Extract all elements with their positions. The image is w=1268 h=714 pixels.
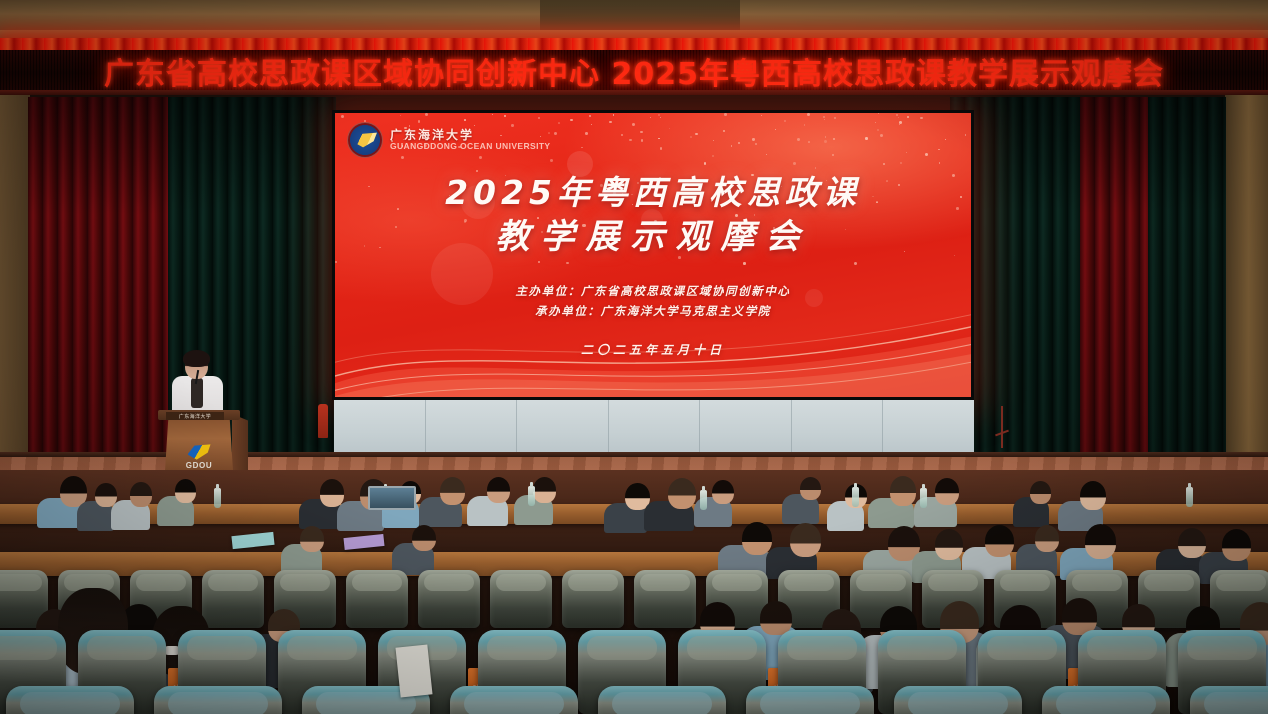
seat-headrest <box>20 692 120 714</box>
seat-headrest <box>1000 574 1050 591</box>
sparkle-dot <box>743 262 745 264</box>
sparkle-dot <box>425 113 428 116</box>
sparkle-dot <box>807 113 810 116</box>
seat-headrest <box>187 636 257 660</box>
seat-headrest <box>587 636 657 660</box>
audience-person-head <box>800 477 821 500</box>
sparkle-dot <box>793 162 796 165</box>
sparkle-dot <box>898 117 899 118</box>
water-bottle <box>214 488 221 508</box>
audience-person-head <box>935 478 959 505</box>
ocean-university-emblem-icon <box>347 122 383 158</box>
audience-person-head <box>130 482 152 506</box>
seat-headrest <box>136 574 186 591</box>
paper-document <box>395 644 432 697</box>
sparkle-dot <box>761 115 762 116</box>
sparkle-dot <box>752 138 754 140</box>
sparkle-dot <box>939 162 940 163</box>
stage-curtain-red-right-a <box>1080 97 1148 485</box>
sparkle-dot <box>832 154 834 156</box>
audience-person-head <box>760 601 792 634</box>
audience-person-head <box>440 477 465 505</box>
seat-headrest <box>280 574 330 591</box>
audience-seating-area: 6排5排4排3排 <box>0 470 1268 714</box>
apron-panel <box>609 400 701 458</box>
sparkle-dot <box>335 261 337 263</box>
seat-headrest <box>0 574 42 591</box>
sparkle-dot <box>704 162 707 165</box>
stage-curtain-red-left <box>28 97 168 489</box>
university-name-en: GUANGDDONG OCEAN UNIVERSITY <box>390 142 551 152</box>
sparkle-dot <box>784 120 787 123</box>
sparkle-dot <box>658 138 660 140</box>
apron-panel <box>883 400 974 458</box>
sparkle-dot <box>854 262 857 265</box>
audience-person-head <box>890 476 916 505</box>
sparkle-dot <box>609 121 611 123</box>
audience-person-head <box>712 480 734 504</box>
sparkle-dot <box>712 155 713 156</box>
sparkle-dot <box>629 139 632 142</box>
seat-headrest <box>887 636 957 660</box>
sparkle-dot <box>815 167 816 168</box>
water-bottle <box>528 486 535 506</box>
sparkle-dot <box>899 124 900 125</box>
sparkle-dot <box>669 128 670 129</box>
gdou-logo: GDOU <box>180 440 218 474</box>
audience-person-head <box>1030 481 1051 504</box>
sparkle-dot <box>581 147 583 149</box>
sparkle-dot <box>558 122 560 124</box>
seat-headrest <box>856 574 906 591</box>
seat-headrest <box>352 574 402 591</box>
water-bottle <box>920 488 927 508</box>
sparkle-dot <box>492 114 493 115</box>
sparkle-dot <box>878 113 879 114</box>
sparkle-dot <box>632 123 635 126</box>
audience-person-head <box>1035 525 1059 552</box>
sparkle-dot <box>400 115 401 116</box>
seat-headrest <box>424 574 474 591</box>
sparkle-dot <box>945 139 946 140</box>
seat-headrest <box>568 574 618 591</box>
sparkle-dot <box>938 149 939 150</box>
ceiling-center-recess <box>540 0 740 34</box>
seat-headrest <box>640 574 690 591</box>
audience-person-head <box>1085 524 1116 559</box>
water-bottle <box>700 490 707 510</box>
audience-person-head <box>668 478 696 510</box>
sparkle-dot <box>341 115 344 118</box>
sparkle-dot <box>877 129 879 131</box>
sparkle-dot <box>695 133 698 136</box>
sparkle-dot <box>658 114 660 116</box>
sparkle-dot <box>464 119 466 121</box>
apron-panel <box>334 400 426 458</box>
led-presentation-screen: 广东海洋大学 GUANGDDONG OCEAN UNIVERSITY 2025年… <box>332 110 974 400</box>
audience-person-head <box>1222 529 1251 561</box>
sparkle-dot <box>920 117 923 120</box>
sparkle-dot <box>641 139 643 141</box>
sparkle-dot <box>570 119 572 121</box>
seat-headrest <box>208 574 258 591</box>
sparkle-dot <box>660 117 661 118</box>
audience-person-head <box>985 525 1014 557</box>
seat-headrest <box>1072 574 1122 591</box>
university-name-cn: 广东海洋大学 <box>390 129 551 142</box>
seat-headrest <box>1204 692 1268 714</box>
sparkle-dot <box>589 115 591 117</box>
apron-panel <box>700 400 792 458</box>
sparkle-dot <box>965 134 967 136</box>
sparkle-dot <box>900 162 902 164</box>
apron-panel <box>426 400 518 458</box>
sparkle-dot <box>738 142 740 144</box>
sparkle-dot <box>554 132 557 135</box>
sparkle-dot <box>613 114 614 115</box>
audience-person-head <box>533 477 556 502</box>
seat-headrest <box>787 636 857 660</box>
fire-extinguisher <box>318 404 328 438</box>
water-bottle <box>1186 487 1193 507</box>
stage-curtain-green-right-b <box>1008 97 1080 485</box>
stage-curtain-green-right-c <box>1148 97 1226 485</box>
seat-headrest <box>784 574 834 591</box>
stage-apron-panels <box>334 400 974 458</box>
sparkle-dot <box>896 114 899 117</box>
seat-headrest <box>487 636 557 660</box>
sparkle-dot <box>906 152 907 153</box>
sparkle-dot <box>833 138 835 140</box>
sparkle-dot <box>640 131 642 133</box>
seat-headrest <box>287 636 357 660</box>
sparkle-dot <box>538 117 539 118</box>
seat-headrest <box>760 692 860 714</box>
sparkle-dot <box>731 145 733 147</box>
seat-headrest <box>1187 636 1257 660</box>
sparkle-dot <box>566 262 569 265</box>
paper-document <box>343 534 384 550</box>
conference-hall-photo: 广东省高校思政课区域协同创新中心 2025年粤西高校思政课教学展示观摩会 广东海… <box>0 0 1268 714</box>
sparkle-dot <box>621 134 623 136</box>
sparkle-dot <box>766 154 767 155</box>
left-wall-pillar <box>0 95 30 490</box>
led-banner: 广东省高校思政课区域协同创新中心 2025年粤西高校思政课教学展示观摩会 <box>0 50 1268 92</box>
university-logo: 广东海洋大学 GUANGDDONG OCEAN UNIVERSITY <box>347 122 551 158</box>
sparkle-dot <box>823 116 825 118</box>
gdou-logo-text: GDOU <box>186 461 212 470</box>
sparkle-dot <box>538 261 540 263</box>
sparkle-dot <box>834 117 836 119</box>
right-wall-pillar <box>1225 95 1268 490</box>
seat-headrest <box>987 636 1057 660</box>
slide-background: 广东海洋大学 GUANGDDONG OCEAN UNIVERSITY 2025年… <box>335 113 971 397</box>
sparkle-dot <box>907 116 909 118</box>
seat-headrest <box>1087 636 1157 660</box>
sparkle-dot <box>865 137 868 140</box>
seat-headrest <box>687 636 757 660</box>
audience-person-head <box>1178 528 1206 559</box>
laptop-computer <box>368 486 416 510</box>
sparkle-dot <box>883 163 885 165</box>
sparkle-dot <box>925 153 928 156</box>
audience-person-head <box>487 477 510 503</box>
sparkle-dot <box>724 113 727 116</box>
seat-headrest <box>612 692 712 714</box>
audience-person-head <box>412 525 436 552</box>
sparkle-dot <box>723 130 725 132</box>
sparkle-dot <box>824 140 827 143</box>
ribbon-decoration <box>335 291 971 397</box>
sparkle-dot <box>504 115 505 116</box>
sparkle-dot <box>690 136 692 138</box>
sparkle-dot <box>591 124 592 125</box>
seat-headrest <box>908 692 1008 714</box>
podium-nameplate-text: 广东海洋大学 <box>179 413 211 420</box>
apron-panel <box>517 400 609 458</box>
audience-person-head <box>742 522 772 555</box>
gdou-swoosh-icon <box>188 444 211 460</box>
audience-person-head <box>300 526 324 552</box>
seat-headrest <box>464 692 564 714</box>
audience-person-head <box>320 479 344 506</box>
water-bottle <box>852 487 859 507</box>
sparkle-dot <box>550 159 553 162</box>
sparkle-dot <box>650 117 651 118</box>
sparkle-dot <box>804 124 805 125</box>
seat-headrest <box>1216 574 1266 591</box>
seat-headrest <box>0 636 57 660</box>
audience-person-head <box>935 529 963 560</box>
speaker-hair <box>183 350 210 367</box>
sparkle-dot <box>875 122 876 123</box>
sparkle-dot <box>880 134 883 137</box>
sparkle-dot <box>713 140 714 141</box>
sparkle-dot <box>660 147 662 149</box>
audience-person-head <box>790 523 821 557</box>
sparkle-dot <box>824 119 825 120</box>
seat-headrest <box>168 692 268 714</box>
music-stand <box>997 406 1007 448</box>
seat-headrest <box>928 574 978 591</box>
seat-headrest <box>496 574 546 591</box>
slide-title-line1: 2025年粤西高校思政课 <box>335 171 971 215</box>
sparkle-dot <box>755 143 757 145</box>
apron-panel <box>792 400 884 458</box>
sparkle-dot <box>825 136 827 138</box>
seat-headrest <box>1144 574 1194 591</box>
sparkle-dot <box>775 129 776 130</box>
led-banner-text: 广东省高校思政课区域协同创新中心 2025年粤西高校思政课教学展示观摩会 <box>104 50 1164 92</box>
audience-person-head <box>175 479 196 503</box>
slide-title: 2025年粤西高校思政课 教学展示观摩会 <box>335 171 971 259</box>
audience-person-head <box>1080 481 1106 510</box>
sparkle-dot <box>585 132 588 135</box>
seat-headrest <box>1056 692 1156 714</box>
podium-nameplate: 广东海洋大学 <box>166 412 224 420</box>
sparkle-dot <box>797 138 800 141</box>
podium-with-speaker: 广东海洋大学 GDOU <box>152 352 244 487</box>
sparkle-dot <box>808 141 810 143</box>
paper-document blue <box>231 532 274 549</box>
seat-headrest <box>712 574 762 591</box>
slide-title-line2: 教学展示观摩会 <box>335 215 971 260</box>
seat-headrest <box>87 636 157 660</box>
